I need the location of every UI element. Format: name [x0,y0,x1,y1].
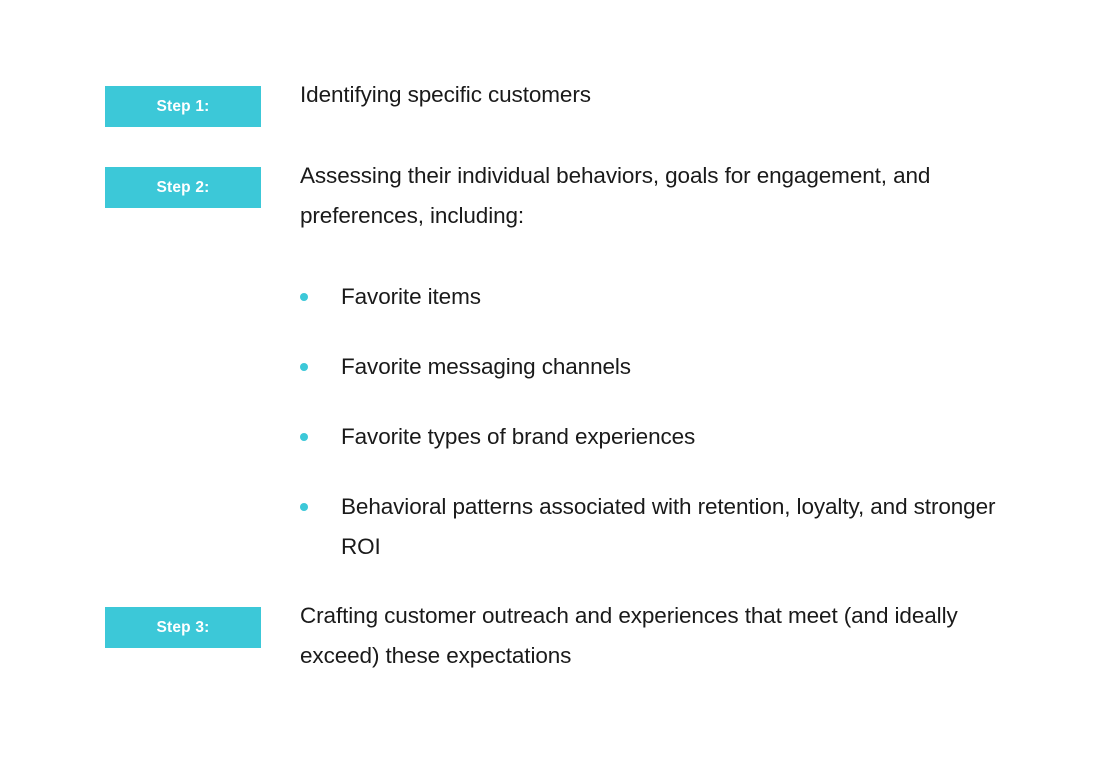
list-item-label: Behavioral patterns associated with rete… [341,487,1031,567]
step-badge-label-3: Step 3: [156,620,209,636]
step-row-2: Step 2: Assessing their individual behav… [105,167,1040,236]
step-badge-2: Step 2: [105,167,261,208]
list-item: Favorite types of brand experiences [300,417,1060,457]
step-2-bullet-list: Favorite items Favorite messaging channe… [300,277,1060,567]
bullet-dot-icon [300,503,308,511]
slide-canvas: Step 1: Identifying specific customers S… [0,0,1120,766]
step-row-1: Step 1: Identifying specific customers [105,86,1000,127]
step-badge-1: Step 1: [105,86,261,127]
list-item: Favorite items [300,277,1060,317]
list-item-label: Favorite messaging channels [341,347,631,387]
list-item-label: Favorite items [341,277,481,317]
step-badge-label-2: Step 2: [156,180,209,196]
bullet-dot-icon [300,293,308,301]
step-description-3: Crafting customer outreach and experienc… [300,596,1010,676]
step-description-2: Assessing their individual behaviors, go… [300,156,1040,236]
bullet-dot-icon [300,363,308,371]
step-description-1: Identifying specific customers [300,75,1000,115]
step-badge-label-1: Step 1: [156,99,209,115]
step-badge-3: Step 3: [105,607,261,648]
list-item-label: Favorite types of brand experiences [341,417,695,457]
bullet-dot-icon [300,433,308,441]
list-item: Favorite messaging channels [300,347,1060,387]
step-row-3: Step 3: Crafting customer outreach and e… [105,607,1010,676]
list-item: Behavioral patterns associated with rete… [300,487,1060,567]
